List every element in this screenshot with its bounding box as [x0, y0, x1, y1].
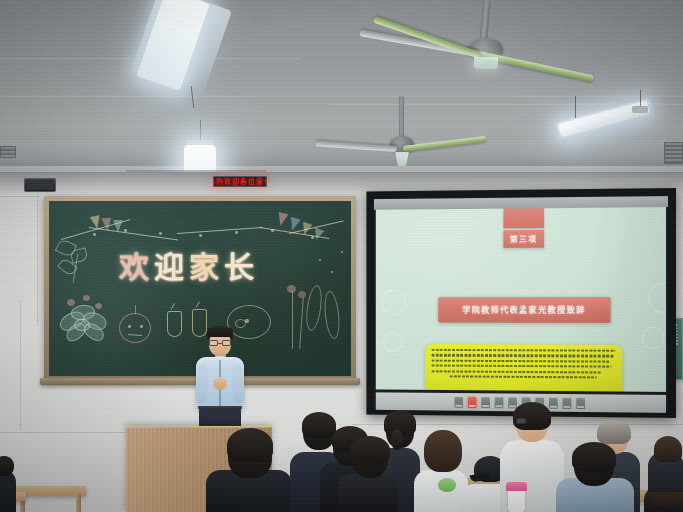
chalk-sketch-ring — [227, 305, 271, 339]
classroom-photo: 热烈欢迎各位家长 — [0, 0, 683, 512]
more-icon[interactable] — [576, 398, 585, 409]
blackboard: 欢迎家长 — [44, 196, 356, 381]
wall-speaker — [24, 178, 56, 192]
screen-icon[interactable] — [562, 397, 571, 408]
air-vent — [664, 142, 683, 164]
projection-screen: 第三项 学院教师代表孟家光教授致辞 — [366, 188, 676, 418]
chalk-char-4: 长 — [224, 251, 259, 286]
pointer-icon[interactable] — [481, 397, 490, 408]
pen-ink-icon[interactable] — [508, 397, 517, 408]
slide-title-text: 学院教师代表孟家光教授致辞 — [462, 304, 585, 316]
chalk-char-3: 家 — [189, 251, 224, 286]
blackboard-surface: 欢迎家长 — [49, 201, 351, 376]
slide-body-box — [425, 344, 622, 392]
presenter-glasses — [209, 340, 218, 346]
green-bag — [438, 478, 456, 492]
attendee-glasses — [516, 418, 526, 424]
slide-title-bar: 学院教师代表孟家光教授致辞 — [438, 297, 610, 323]
presenter-glasses-right — [222, 340, 231, 346]
blackboard-chalk-title: 欢迎家长 — [119, 243, 259, 287]
magnify-icon[interactable] — [548, 397, 557, 408]
highlighter-icon[interactable] — [467, 397, 476, 408]
chalk-char-2: 迎 — [154, 251, 189, 286]
pen-icon[interactable] — [454, 396, 463, 407]
presenter-hands — [213, 377, 227, 390]
led-scrolling-sign: 热烈欢迎各位家长 — [213, 176, 267, 187]
led-sign-text: 热烈欢迎各位家长 — [213, 176, 267, 187]
chalk-char-1: 欢 — [119, 251, 154, 286]
slide-section-badge: 第三项 — [503, 230, 544, 248]
presentation-slide: 第三项 学院教师代表孟家光教授致辞 — [376, 207, 666, 392]
slide-section-chip — [503, 208, 544, 228]
air-vent-left — [0, 146, 16, 158]
slide-section-badge-text: 第三项 — [510, 233, 538, 244]
arrow-icon[interactable] — [494, 397, 503, 408]
